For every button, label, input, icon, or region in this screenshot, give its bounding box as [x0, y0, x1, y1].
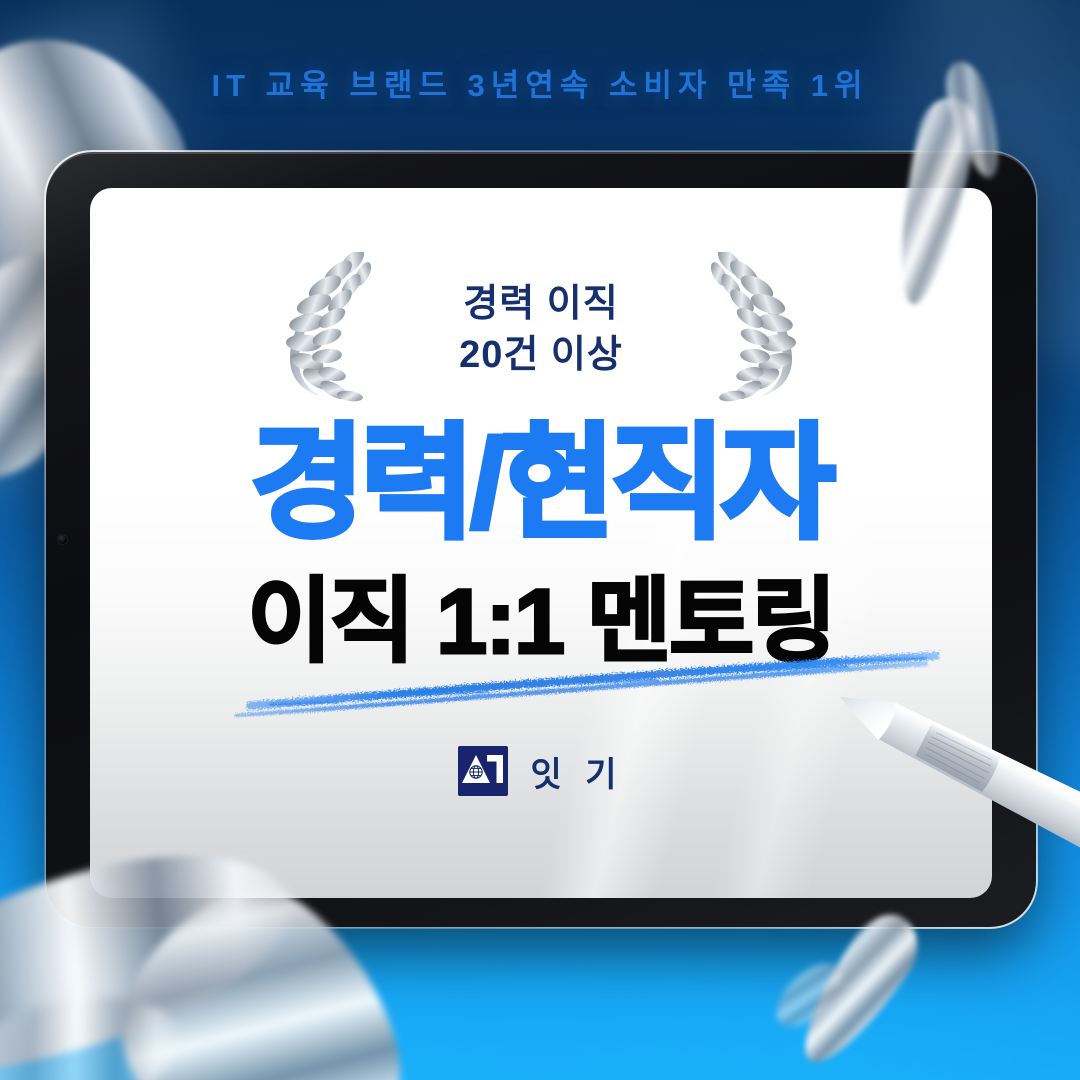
laurel-wreath-right-icon [706, 252, 814, 407]
screen-content: 경력 이직 20건 이상 [90, 188, 992, 898]
brand-logo-row: 잇 기 [90, 746, 992, 796]
award-line-2: 20건 이상 [376, 330, 706, 380]
brand-name: 잇 기 [530, 747, 623, 796]
front-camera-dot-icon [58, 535, 67, 544]
award-block: 경력 이직 20건 이상 [90, 252, 992, 407]
itgi-logo-mark-icon [458, 746, 508, 796]
headline-main: 경력/현직자 [90, 422, 992, 546]
laurel-wreath-left-icon [268, 252, 376, 407]
top-banner-text: IT 교육 브랜드 3년연속 소비자 만족 1위 [0, 60, 1080, 105]
tablet-device: 경력 이직 20건 이상 [46, 152, 1036, 927]
award-caption: 경력 이직 20건 이상 [376, 279, 706, 379]
tablet-screen: 경력 이직 20건 이상 [90, 188, 992, 898]
poster-canvas: IT 교육 브랜드 3년연속 소비자 만족 1위 [0, 0, 1080, 1080]
award-line-1: 경력 이직 [376, 279, 706, 329]
